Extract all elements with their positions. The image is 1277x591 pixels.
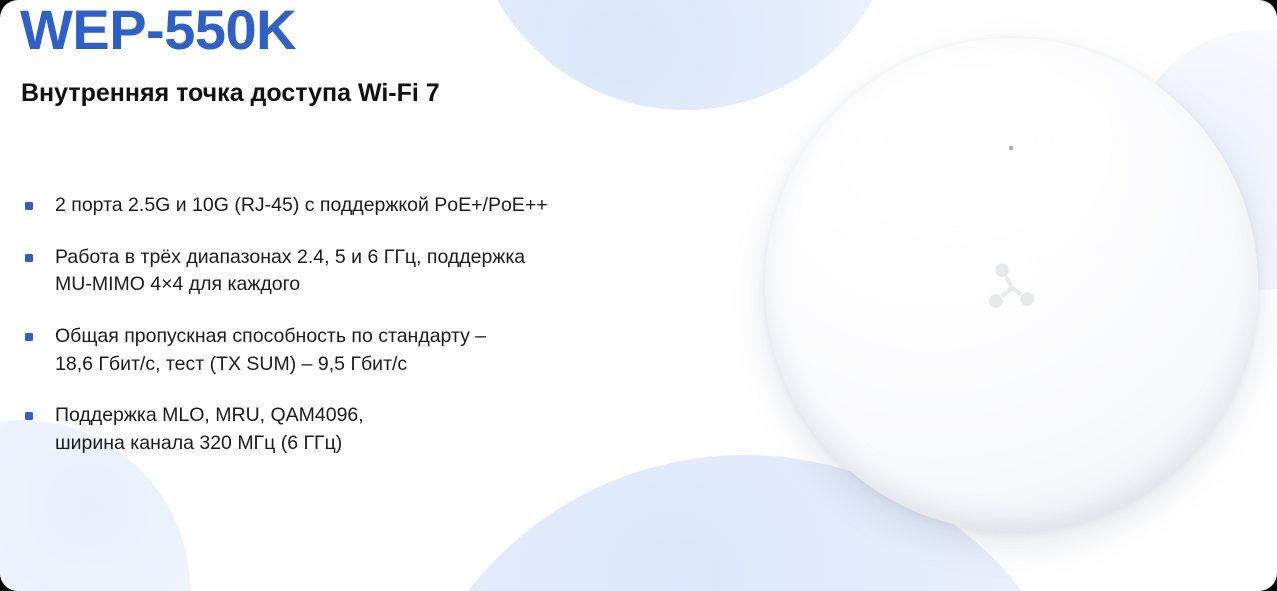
page-subtitle: Внутренняя точка доступа Wi-Fi 7	[21, 80, 440, 108]
bullet-square-icon	[25, 202, 33, 210]
feature-list-item: Общая пропускная способность по стандарт…	[22, 323, 742, 378]
bullet-square-icon	[25, 412, 33, 420]
feature-text: Работа в трёх диапазонах 2.4, 5 и 6 ГГц,…	[55, 244, 742, 299]
status-led-dot-icon	[1009, 146, 1013, 150]
feature-text: Поддержка MLO, MRU, QAM4096, ширина кана…	[55, 402, 742, 457]
feature-text: 2 порта 2.5G и 10G (RJ-45) с поддержкой …	[55, 192, 742, 220]
bullet-square-icon	[25, 254, 33, 262]
bullet-square-icon	[25, 333, 33, 341]
feature-list-item: Работа в трёх диапазонах 2.4, 5 и 6 ГГц,…	[22, 244, 742, 299]
feature-list: 2 порта 2.5G и 10G (RJ-45) с поддержкой …	[22, 192, 742, 482]
product-slide: WEP-550K Внутренняя точка доступа Wi-Fi …	[0, 0, 1277, 591]
access-point-device	[765, 38, 1258, 531]
text-column: WEP-550K Внутренняя точка доступа Wi-Fi …	[0, 0, 760, 591]
feature-list-item: Поддержка MLO, MRU, QAM4096, ширина кана…	[22, 402, 742, 457]
feature-text: Общая пропускная способность по стандарт…	[55, 323, 742, 378]
eltex-trilobe-logo-icon	[977, 252, 1047, 322]
feature-list-item: 2 порта 2.5G и 10G (RJ-45) с поддержкой …	[22, 192, 742, 220]
page-title: WEP-550K	[20, 2, 296, 58]
